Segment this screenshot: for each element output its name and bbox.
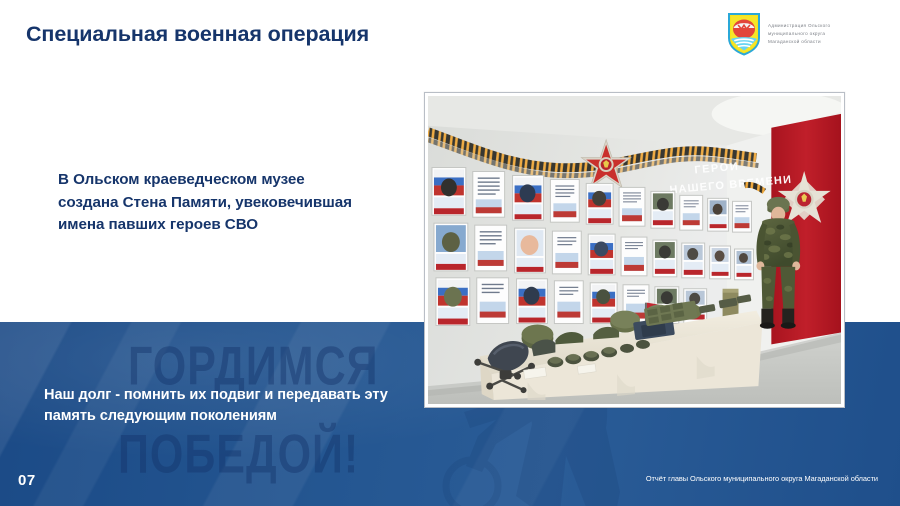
- logo-line-1: Администрация Ольского: [768, 22, 868, 30]
- organization-logo: Администрация Ольского муниципального ок…: [727, 12, 868, 56]
- slide: Специальная военная операция Администрац…: [0, 0, 900, 506]
- logo-line-2: муниципального округа: [768, 30, 868, 38]
- photo-frame: ГЕРОИ НАШЕГО ВРЕМЕНИ: [424, 92, 845, 408]
- page-title: Специальная военная операция: [26, 20, 386, 49]
- coat-of-arms-icon: [727, 12, 761, 56]
- footer-note: Отчёт главы Ольского муниципального окру…: [646, 474, 878, 483]
- logo-line-3: Магаданской области: [768, 38, 868, 46]
- page-number: 07: [18, 472, 36, 489]
- museum-photo: ГЕРОИ НАШЕГО ВРЕМЕНИ: [428, 96, 841, 404]
- banner-message: Наш долг - помнить их подвиг и передават…: [44, 385, 396, 427]
- body-paragraph: В Ольском краеведческом музее создана Ст…: [58, 169, 360, 237]
- logo-text-block: Администрация Ольского муниципального ок…: [768, 22, 868, 46]
